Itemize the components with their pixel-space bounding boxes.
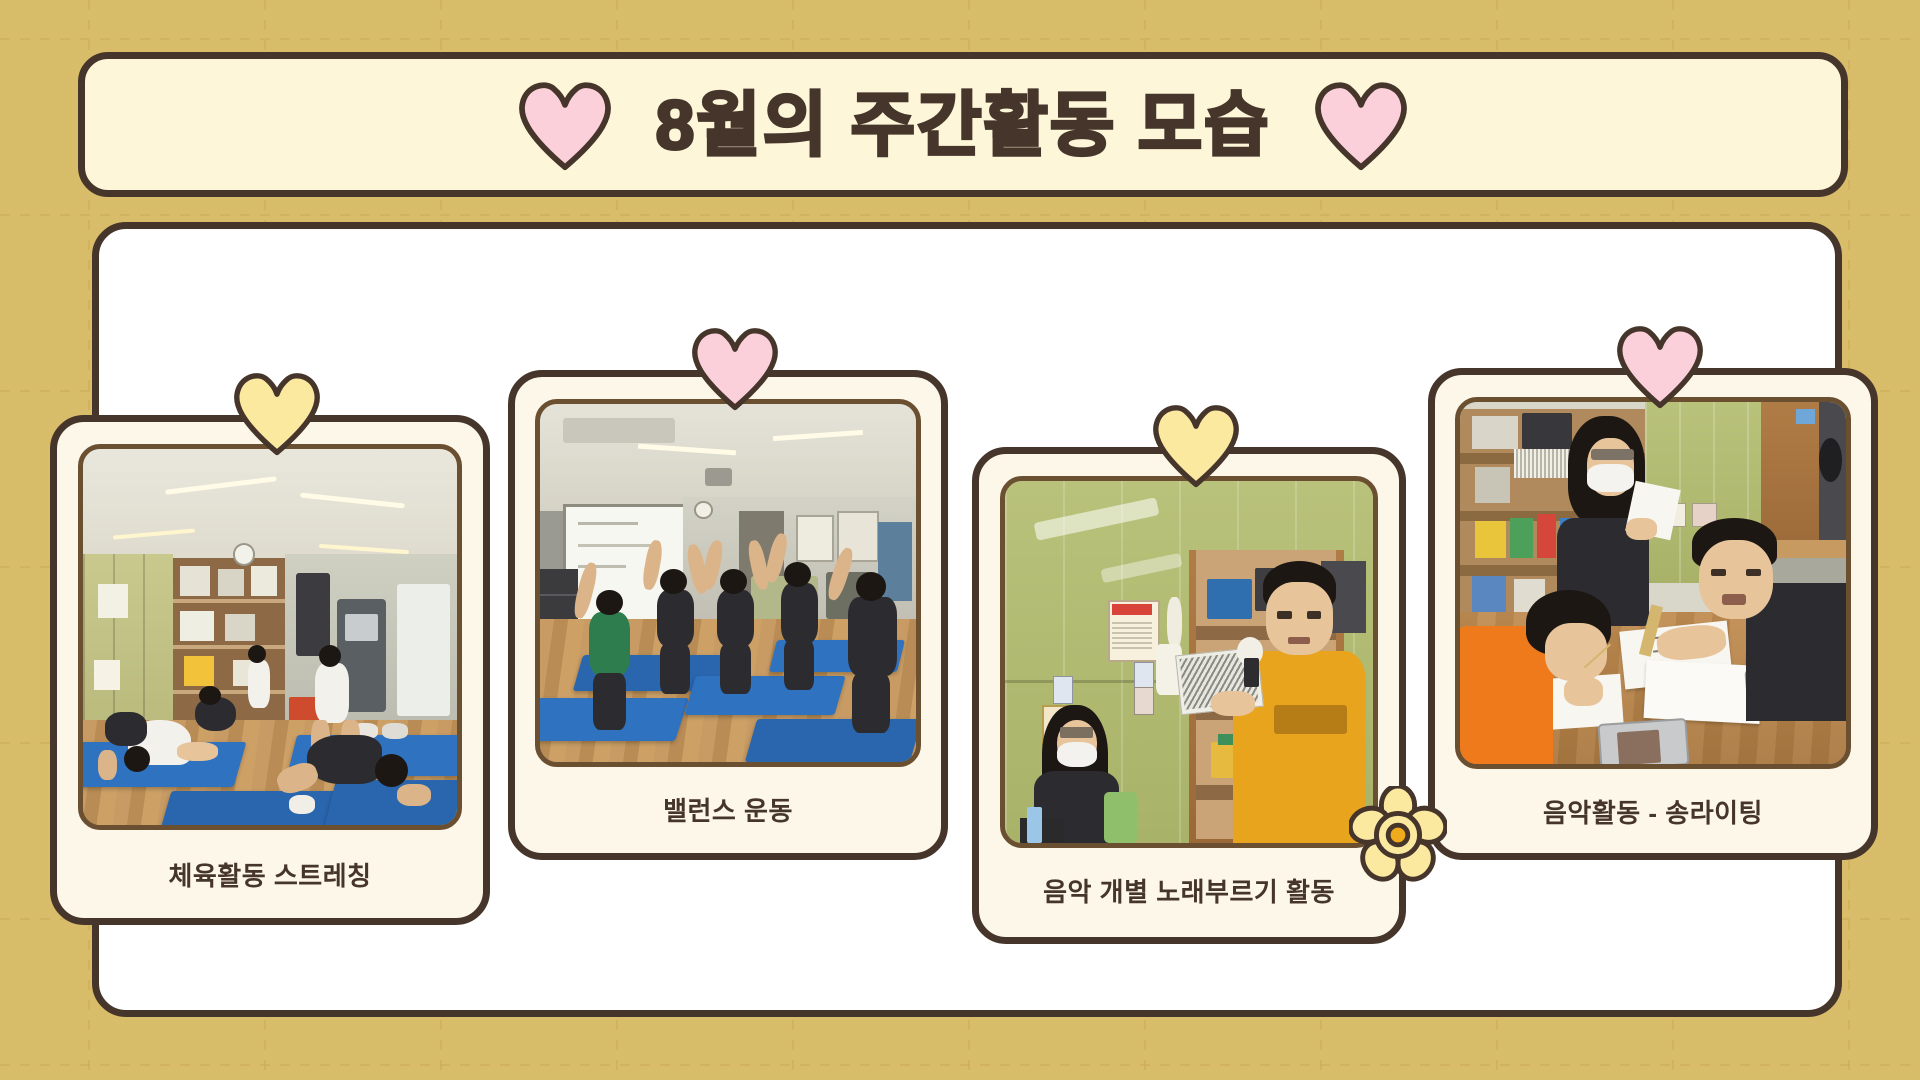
heart-icon-right — [1313, 79, 1409, 171]
photo-3[interactable] — [1000, 476, 1378, 848]
photo-1[interactable] — [78, 444, 462, 830]
heart-icon-pink — [690, 325, 780, 411]
photo-4[interactable] — [1455, 397, 1851, 769]
photo-card-1[interactable]: 체육활동 스트레칭 — [50, 415, 490, 925]
grid-line-horizontal — [0, 214, 1920, 216]
photo-card-4[interactable]: 음악활동 - 송라이팅 — [1428, 368, 1878, 860]
flower-icon — [1349, 786, 1447, 889]
grid-line-horizontal — [0, 1064, 1920, 1066]
photo-card-3[interactable]: 음악 개별 노래부르기 활동 — [972, 447, 1406, 944]
page-title: 8월의 주간활동 모습 — [655, 90, 1270, 160]
grid-line-horizontal — [0, 38, 1920, 40]
photo-2[interactable] — [535, 399, 921, 767]
heart-icon-pink — [1615, 323, 1705, 409]
heart-icon-yellow — [232, 370, 322, 456]
heart-icon-yellow — [1151, 402, 1241, 488]
photo-card-2[interactable]: 밸런스 운동 — [508, 370, 948, 860]
caption-2: 밸런스 운동 — [663, 791, 793, 828]
heart-icon-left — [517, 79, 613, 171]
caption-1: 체육활동 스트레칭 — [168, 856, 371, 893]
title-banner: 8월의 주간활동 모습 — [78, 52, 1848, 197]
caption-3: 음악 개별 노래부르기 활동 — [1043, 872, 1335, 909]
caption-4: 음악활동 - 송라이팅 — [1543, 793, 1763, 830]
